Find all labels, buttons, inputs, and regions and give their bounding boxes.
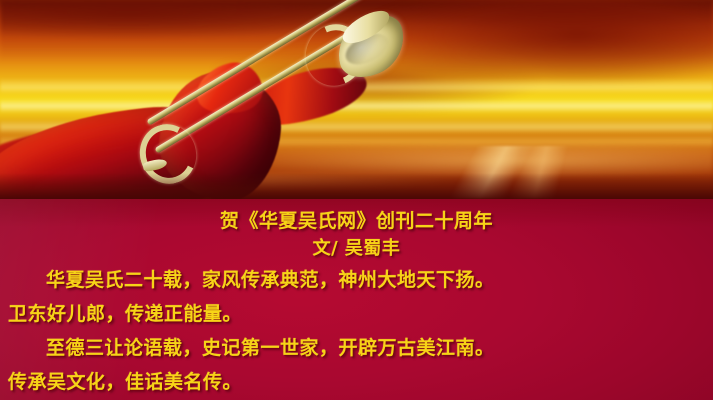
- author-byline: 文/ 吴蜀丰: [8, 236, 705, 262]
- poster-root: 贺《华夏吴氏网》创刊二十周年 文/ 吴蜀丰 华夏吴氏二十载，家风传承典范，神州大…: [0, 0, 713, 400]
- hero-banner-image: [0, 0, 713, 199]
- verse-line-2: 卫东好儿郎，传递正能量。: [8, 299, 705, 330]
- text-panel: 贺《华夏吴氏网》创刊二十周年 文/ 吴蜀丰 华夏吴氏二十载，家风传承典范，神州大…: [0, 199, 713, 400]
- hero-bottom-shadow: [0, 173, 713, 199]
- verse-line-3: 至德三让论语载，史记第一世家，开辟万古美江南。: [8, 333, 705, 364]
- verse-line-1: 华夏吴氏二十载，家风传承典范，神州大地天下扬。: [8, 265, 705, 296]
- verse-line-4: 传承吴文化，佳话美名传。: [8, 367, 705, 398]
- page-title: 贺《华夏吴氏网》创刊二十周年: [8, 208, 705, 234]
